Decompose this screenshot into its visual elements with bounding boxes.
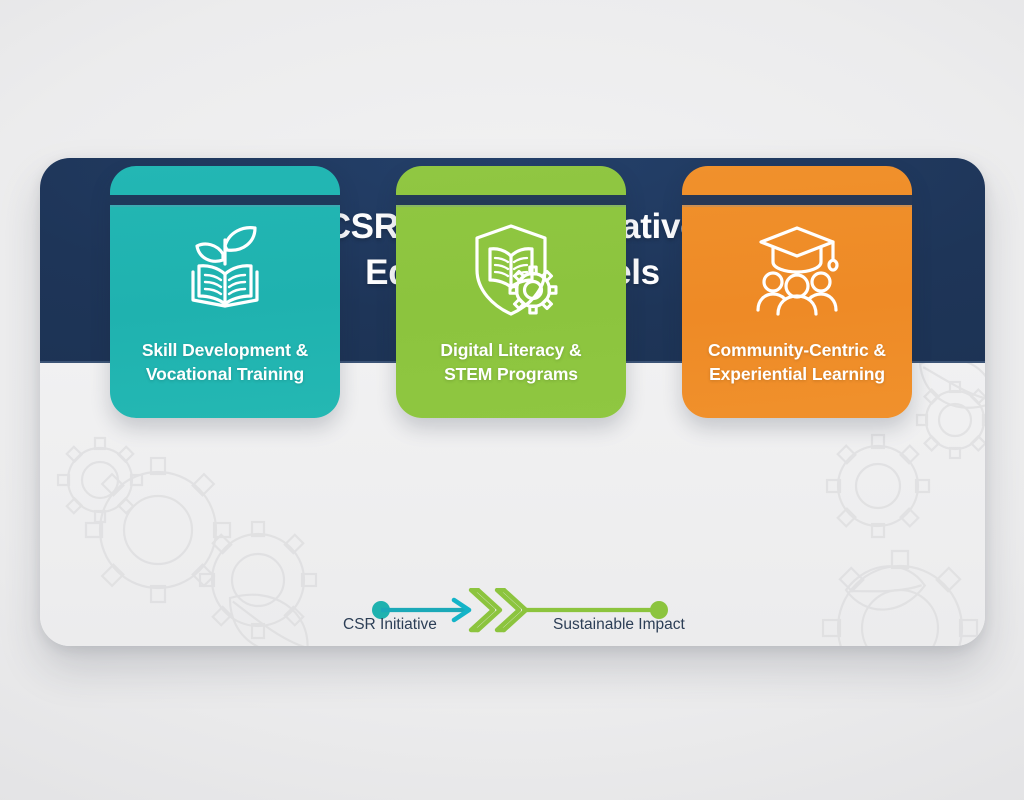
card-label-line-1: Digital Literacy & bbox=[404, 338, 619, 362]
infographic-panel: CSR-Based Alternative Education Models bbox=[40, 158, 985, 646]
card-skill-development[interactable]: Skill Development & Vocational Training bbox=[110, 166, 340, 418]
card-digital-literacy[interactable]: Digital Literacy & STEM Programs bbox=[396, 166, 626, 418]
band-overlap-hairline bbox=[396, 205, 626, 207]
band-overlap-stripe bbox=[682, 195, 912, 205]
flow-end-label: Sustainable Impact bbox=[553, 616, 685, 634]
card-label: Digital Literacy & STEM Programs bbox=[404, 338, 619, 386]
card-label: Community-Centric & Experiential Learnin… bbox=[690, 338, 905, 386]
band-overlap-hairline bbox=[682, 205, 912, 207]
graduation-cap-people-icon bbox=[745, 218, 849, 322]
screenshot-canvas: CSR-Based Alternative Education Models bbox=[0, 0, 1024, 800]
card-label-line-2: Vocational Training bbox=[118, 362, 333, 386]
card-community-centric[interactable]: Community-Centric & Experiential Learnin… bbox=[682, 166, 912, 418]
book-sprout-icon bbox=[173, 218, 277, 322]
card-label-line-1: Community-Centric & bbox=[690, 338, 905, 362]
card-label-line-1: Skill Development & bbox=[118, 338, 333, 362]
shield-book-gear-icon bbox=[459, 218, 563, 322]
band-overlap-stripe bbox=[396, 195, 626, 205]
card-label: Skill Development & Vocational Training bbox=[118, 338, 333, 386]
band-overlap-stripe bbox=[110, 195, 340, 205]
card-label-line-2: STEM Programs bbox=[404, 362, 619, 386]
cards-row: Skill Development & Vocational Training bbox=[40, 158, 985, 646]
flow-start-label: CSR Initiative bbox=[343, 616, 437, 634]
band-overlap-hairline bbox=[110, 205, 340, 207]
card-label-line-2: Experiential Learning bbox=[690, 362, 905, 386]
